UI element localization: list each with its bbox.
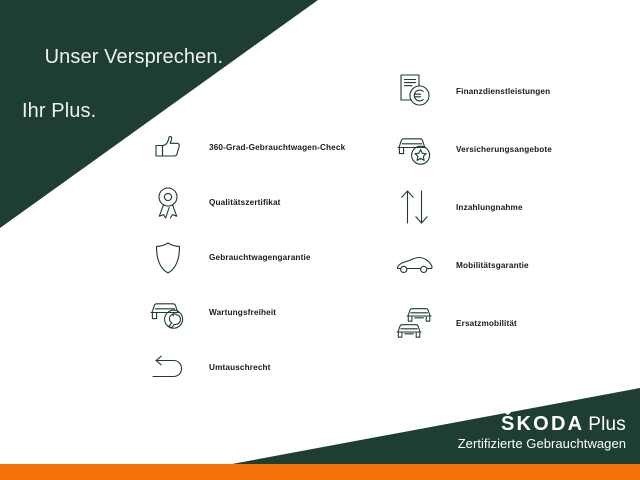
- feature-label: Umtauschrecht: [209, 363, 271, 372]
- logo-tagline: Zertifizierte Gebrauchtwagen: [458, 436, 626, 452]
- promo-banner: Unser Versprechen. Ihr Plus. 360-Grad-Ge…: [0, 0, 640, 480]
- shield-icon: [145, 235, 191, 281]
- two-cars-icon: [392, 300, 438, 346]
- car-side-icon: [392, 242, 438, 288]
- feature-item: Versicherungsangebote: [392, 120, 632, 178]
- feature-list-right: Finanzdienstleistungen Versicherungsange…: [392, 62, 632, 352]
- feature-list-left: 360-Grad-Gebrauchtwagen-Check Qualitätsz…: [145, 120, 385, 395]
- orange-bottom-bar: [0, 464, 640, 480]
- logo-brand-suffix: Plus: [588, 414, 626, 435]
- feature-item: Gebrauchtwagengarantie: [145, 230, 385, 285]
- feature-item: Umtauschrecht: [145, 340, 385, 395]
- feature-item: Inzahlungnahme: [392, 178, 632, 236]
- award-rosette-icon: [145, 180, 191, 226]
- headline-line-1: Unser Versprechen.: [45, 46, 224, 68]
- feature-item: Wartungsfreiheit: [145, 285, 385, 340]
- car-wrench-icon: [145, 290, 191, 336]
- feature-label: 360-Grad-Gebrauchtwagen-Check: [209, 143, 345, 152]
- logo-primary-line: ŠKODAPlus: [458, 414, 626, 435]
- feature-item: Qualitätszertifikat: [145, 175, 385, 230]
- feature-label: Wartungsfreiheit: [209, 308, 276, 317]
- car-star-icon: [392, 126, 438, 172]
- feature-label: Inzahlungnahme: [456, 203, 523, 212]
- up-down-arrows-icon: [392, 184, 438, 230]
- feature-label: Finanzdienstleistungen: [456, 87, 550, 96]
- brand-logo: ŠKODAPlus Zertifizierte Gebrauchtwagen: [458, 414, 626, 452]
- feature-item: 360-Grad-Gebrauchtwagen-Check: [145, 120, 385, 175]
- feature-label: Versicherungsangebote: [456, 145, 552, 154]
- feature-label: Qualitätszertifikat: [209, 198, 281, 207]
- document-euro-icon: [392, 68, 438, 114]
- feature-item: Mobilitätsgarantie: [392, 236, 632, 294]
- feature-label: Mobilitätsgarantie: [456, 261, 529, 270]
- logo-brand-name: ŠKODA: [501, 413, 584, 435]
- feature-label: Gebrauchtwagengarantie: [209, 253, 311, 262]
- thumbs-up-icon: [145, 125, 191, 171]
- u-turn-arrow-icon: [145, 345, 191, 391]
- feature-label: Ersatzmobilität: [456, 319, 517, 328]
- feature-item: Ersatzmobilität: [392, 294, 632, 352]
- feature-item: Finanzdienstleistungen: [392, 62, 632, 120]
